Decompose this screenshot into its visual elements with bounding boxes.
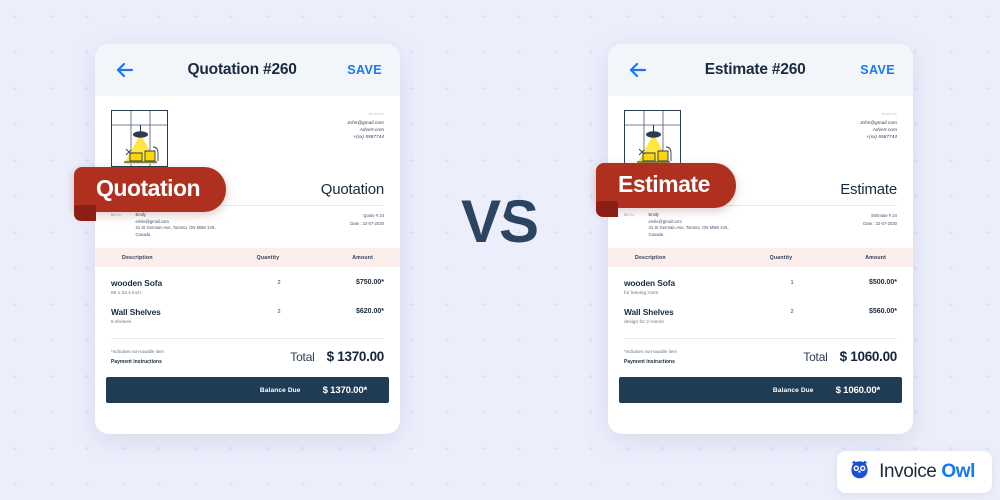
table-row: Wall Shelves 6 shelves 2 $620.00* xyxy=(111,296,384,325)
address-label: Address xyxy=(860,112,897,116)
column-header-amount: Amount xyxy=(303,255,373,261)
invoice-body-left: Address John@gmail.com Advert.com +(xx) … xyxy=(95,96,400,365)
invoiceowl-logo[interactable]: Invoice Owl xyxy=(837,451,992,493)
item-amount: $620.00* xyxy=(314,307,384,315)
item-subtitle: design for 2 rooms xyxy=(624,320,757,325)
quotation-badge: Quotation xyxy=(74,167,226,212)
address-line: John@gmail.com xyxy=(860,119,897,126)
document-meta-block: Estimate # 24 Date : 22-07-2020 xyxy=(863,212,897,238)
table-header-row: Description Quantity Amount xyxy=(95,248,400,267)
bill-to-line: emile@gmail.com xyxy=(136,219,216,226)
estimate-card: Estimate #260 SAVE xyxy=(608,44,913,434)
address-line: +(xx) 5587744 xyxy=(860,133,897,140)
estimate-badge: Estimate xyxy=(596,163,736,208)
document-date: Date : 22-07-2020 xyxy=(350,220,384,228)
total-row: *Indicates non-taxable item Payment inst… xyxy=(111,339,384,365)
item-subtitle: 6 shelves xyxy=(111,320,244,325)
brand-name-part1: Invoice xyxy=(879,461,936,482)
lamp-furniture-illustration xyxy=(111,110,168,167)
invoice-top-row: Address John@gmail.com Advert.com +(xx) … xyxy=(111,110,384,167)
item-name: Wall Shelves xyxy=(624,307,757,318)
bill-to-line: 31 St Germain Ave, Toronto, ON M5M 1V5, xyxy=(136,225,216,232)
lamp-furniture-illustration xyxy=(624,110,681,167)
bill-to-line: 31 St Germain Ave, Toronto, ON M5M 1V5, xyxy=(649,225,729,232)
page-title: Quotation #260 xyxy=(137,61,347,79)
brand-name: Invoice Owl xyxy=(879,462,975,482)
item-amount: $560.00* xyxy=(827,307,897,315)
billing-meta-row: Bill To: Emily emile@gmail.com 31 St Ger… xyxy=(111,212,384,238)
balance-due-label: Balance Due xyxy=(773,387,814,394)
column-header-quantity: Quantity xyxy=(746,255,816,261)
total-row: *Indicates non-taxable item Payment inst… xyxy=(624,339,897,365)
balance-due-label: Balance Due xyxy=(260,387,301,394)
item-name: wooden Sofa xyxy=(111,278,244,289)
payment-instructions-label: Payment instructions xyxy=(624,359,677,365)
badge-label: Estimate xyxy=(618,172,710,197)
badge-label: Quotation xyxy=(96,176,200,201)
item-quantity: 1 xyxy=(757,278,827,286)
bill-to-block: Bill To: Emily emile@gmail.com 31 St Ger… xyxy=(111,212,216,238)
balance-due-bar: Balance Due $ 1060.00* xyxy=(619,377,902,403)
owl-icon xyxy=(849,459,870,485)
quotation-card: Quotation #260 SAVE xyxy=(95,44,400,434)
table-row: wooden Sofa for leaving room 1 $500.00* xyxy=(624,267,897,296)
table-row: wooden Sofa 65 x 33.4 inch 2 $750.00* xyxy=(111,267,384,296)
item-description: wooden Sofa 65 x 33.4 inch xyxy=(111,278,244,296)
bill-to-line: Emily xyxy=(136,212,216,219)
item-amount: $750.00* xyxy=(314,278,384,286)
versus-graphic: V S xyxy=(455,180,555,260)
line-items-table: Description Quantity Amount wooden Sofa … xyxy=(624,248,897,365)
badge-body: Estimate xyxy=(596,163,736,208)
company-address-block: Address John@gmail.com Advert.com +(xx) … xyxy=(347,110,384,140)
back-arrow-icon[interactable] xyxy=(113,58,137,82)
item-name: wooden Sofa xyxy=(624,278,757,289)
address-label: Address xyxy=(347,112,384,116)
bill-to-lines: Emily emile@gmail.com 31 St Germain Ave,… xyxy=(649,212,729,238)
document-number: Quote # 24 xyxy=(350,212,384,220)
bill-to-line: Canada xyxy=(649,232,729,239)
item-amount: $500.00* xyxy=(827,278,897,286)
total-amount-group: Total $ 1060.00 xyxy=(803,349,897,364)
bill-to-lines: Emily emile@gmail.com 31 St Germain Ave,… xyxy=(136,212,216,238)
address-line: Advert.com xyxy=(860,126,897,133)
item-description: wooden Sofa for leaving room xyxy=(624,278,757,296)
total-value: $ 1060.00 xyxy=(840,349,897,364)
billing-meta-row: Bill To: Emily emile@gmail.com 31 St Ger… xyxy=(624,212,897,238)
non-taxable-note: *Indicates non-taxable item xyxy=(624,348,677,356)
column-header-description: Description xyxy=(635,255,746,261)
item-quantity: 2 xyxy=(244,278,314,286)
app-header-left: Quotation #260 SAVE xyxy=(95,44,400,96)
item-subtitle: for leaving room xyxy=(624,291,757,296)
svg-text:V: V xyxy=(461,188,501,255)
address-line: Advert.com xyxy=(347,126,384,133)
column-header-quantity: Quantity xyxy=(233,255,303,261)
non-taxable-note: *Indicates non-taxable item xyxy=(111,348,164,356)
comparison-stage: Quotation #260 SAVE xyxy=(0,0,1000,500)
balance-due-bar: Balance Due $ 1370.00* xyxy=(106,377,389,403)
save-button[interactable]: SAVE xyxy=(860,63,895,77)
column-header-description: Description xyxy=(122,255,233,261)
balance-due-value: $ 1370.00* xyxy=(323,385,367,396)
total-value: $ 1370.00 xyxy=(327,349,384,364)
total-amount-group: Total $ 1370.00 xyxy=(290,349,384,364)
invoice-notes: *Indicates non-taxable item Payment inst… xyxy=(624,348,677,365)
item-quantity: 2 xyxy=(757,307,827,315)
badge-tail xyxy=(74,205,96,221)
save-button[interactable]: SAVE xyxy=(347,63,382,77)
balance-due-value: $ 1060.00* xyxy=(836,385,880,396)
bill-to-label: Bill To: xyxy=(624,212,635,238)
table-header-row: Description Quantity Amount xyxy=(608,248,913,267)
address-line: John@gmail.com xyxy=(347,119,384,126)
item-description: Wall Shelves 6 shelves xyxy=(111,307,244,325)
bill-to-line: Emily xyxy=(649,212,729,219)
document-number: Estimate # 24 xyxy=(863,212,897,220)
bill-to-block: Bill To: Emily emile@gmail.com 31 St Ger… xyxy=(624,212,729,238)
badge-body: Quotation xyxy=(74,167,226,212)
bill-to-line: Canada xyxy=(136,232,216,239)
item-quantity: 2 xyxy=(244,307,314,315)
app-header-right: Estimate #260 SAVE xyxy=(608,44,913,96)
item-subtitle: 65 x 33.4 inch xyxy=(111,291,244,296)
bill-to-label: Bill To: xyxy=(111,212,122,238)
line-items-table: Description Quantity Amount wooden Sofa … xyxy=(111,248,384,365)
table-row: Wall Shelves design for 2 rooms 2 $560.0… xyxy=(624,296,897,325)
badge-tail xyxy=(596,201,618,217)
brand-name-part2: Owl xyxy=(936,461,975,482)
invoice-top-row: Address John@gmail.com Advert.com +(xx) … xyxy=(624,110,897,167)
company-address-block: Address John@gmail.com Advert.com +(xx) … xyxy=(860,110,897,140)
document-date: Date : 22-07-2020 xyxy=(863,220,897,228)
document-meta-block: Quote # 24 Date : 22-07-2020 xyxy=(350,212,384,238)
item-name: Wall Shelves xyxy=(111,307,244,318)
item-description: Wall Shelves design for 2 rooms xyxy=(624,307,757,325)
total-label: Total xyxy=(803,350,827,364)
back-arrow-icon[interactable] xyxy=(626,58,650,82)
column-header-amount: Amount xyxy=(816,255,886,261)
invoice-body-right: Address John@gmail.com Advert.com +(xx) … xyxy=(608,96,913,365)
payment-instructions-label: Payment instructions xyxy=(111,359,164,365)
page-title: Estimate #260 xyxy=(650,61,860,79)
address-line: +(xx) 5587744 xyxy=(347,133,384,140)
total-label: Total xyxy=(290,350,314,364)
bill-to-line: emile@gmail.com xyxy=(649,219,729,226)
invoice-notes: *Indicates non-taxable item Payment inst… xyxy=(111,348,164,365)
